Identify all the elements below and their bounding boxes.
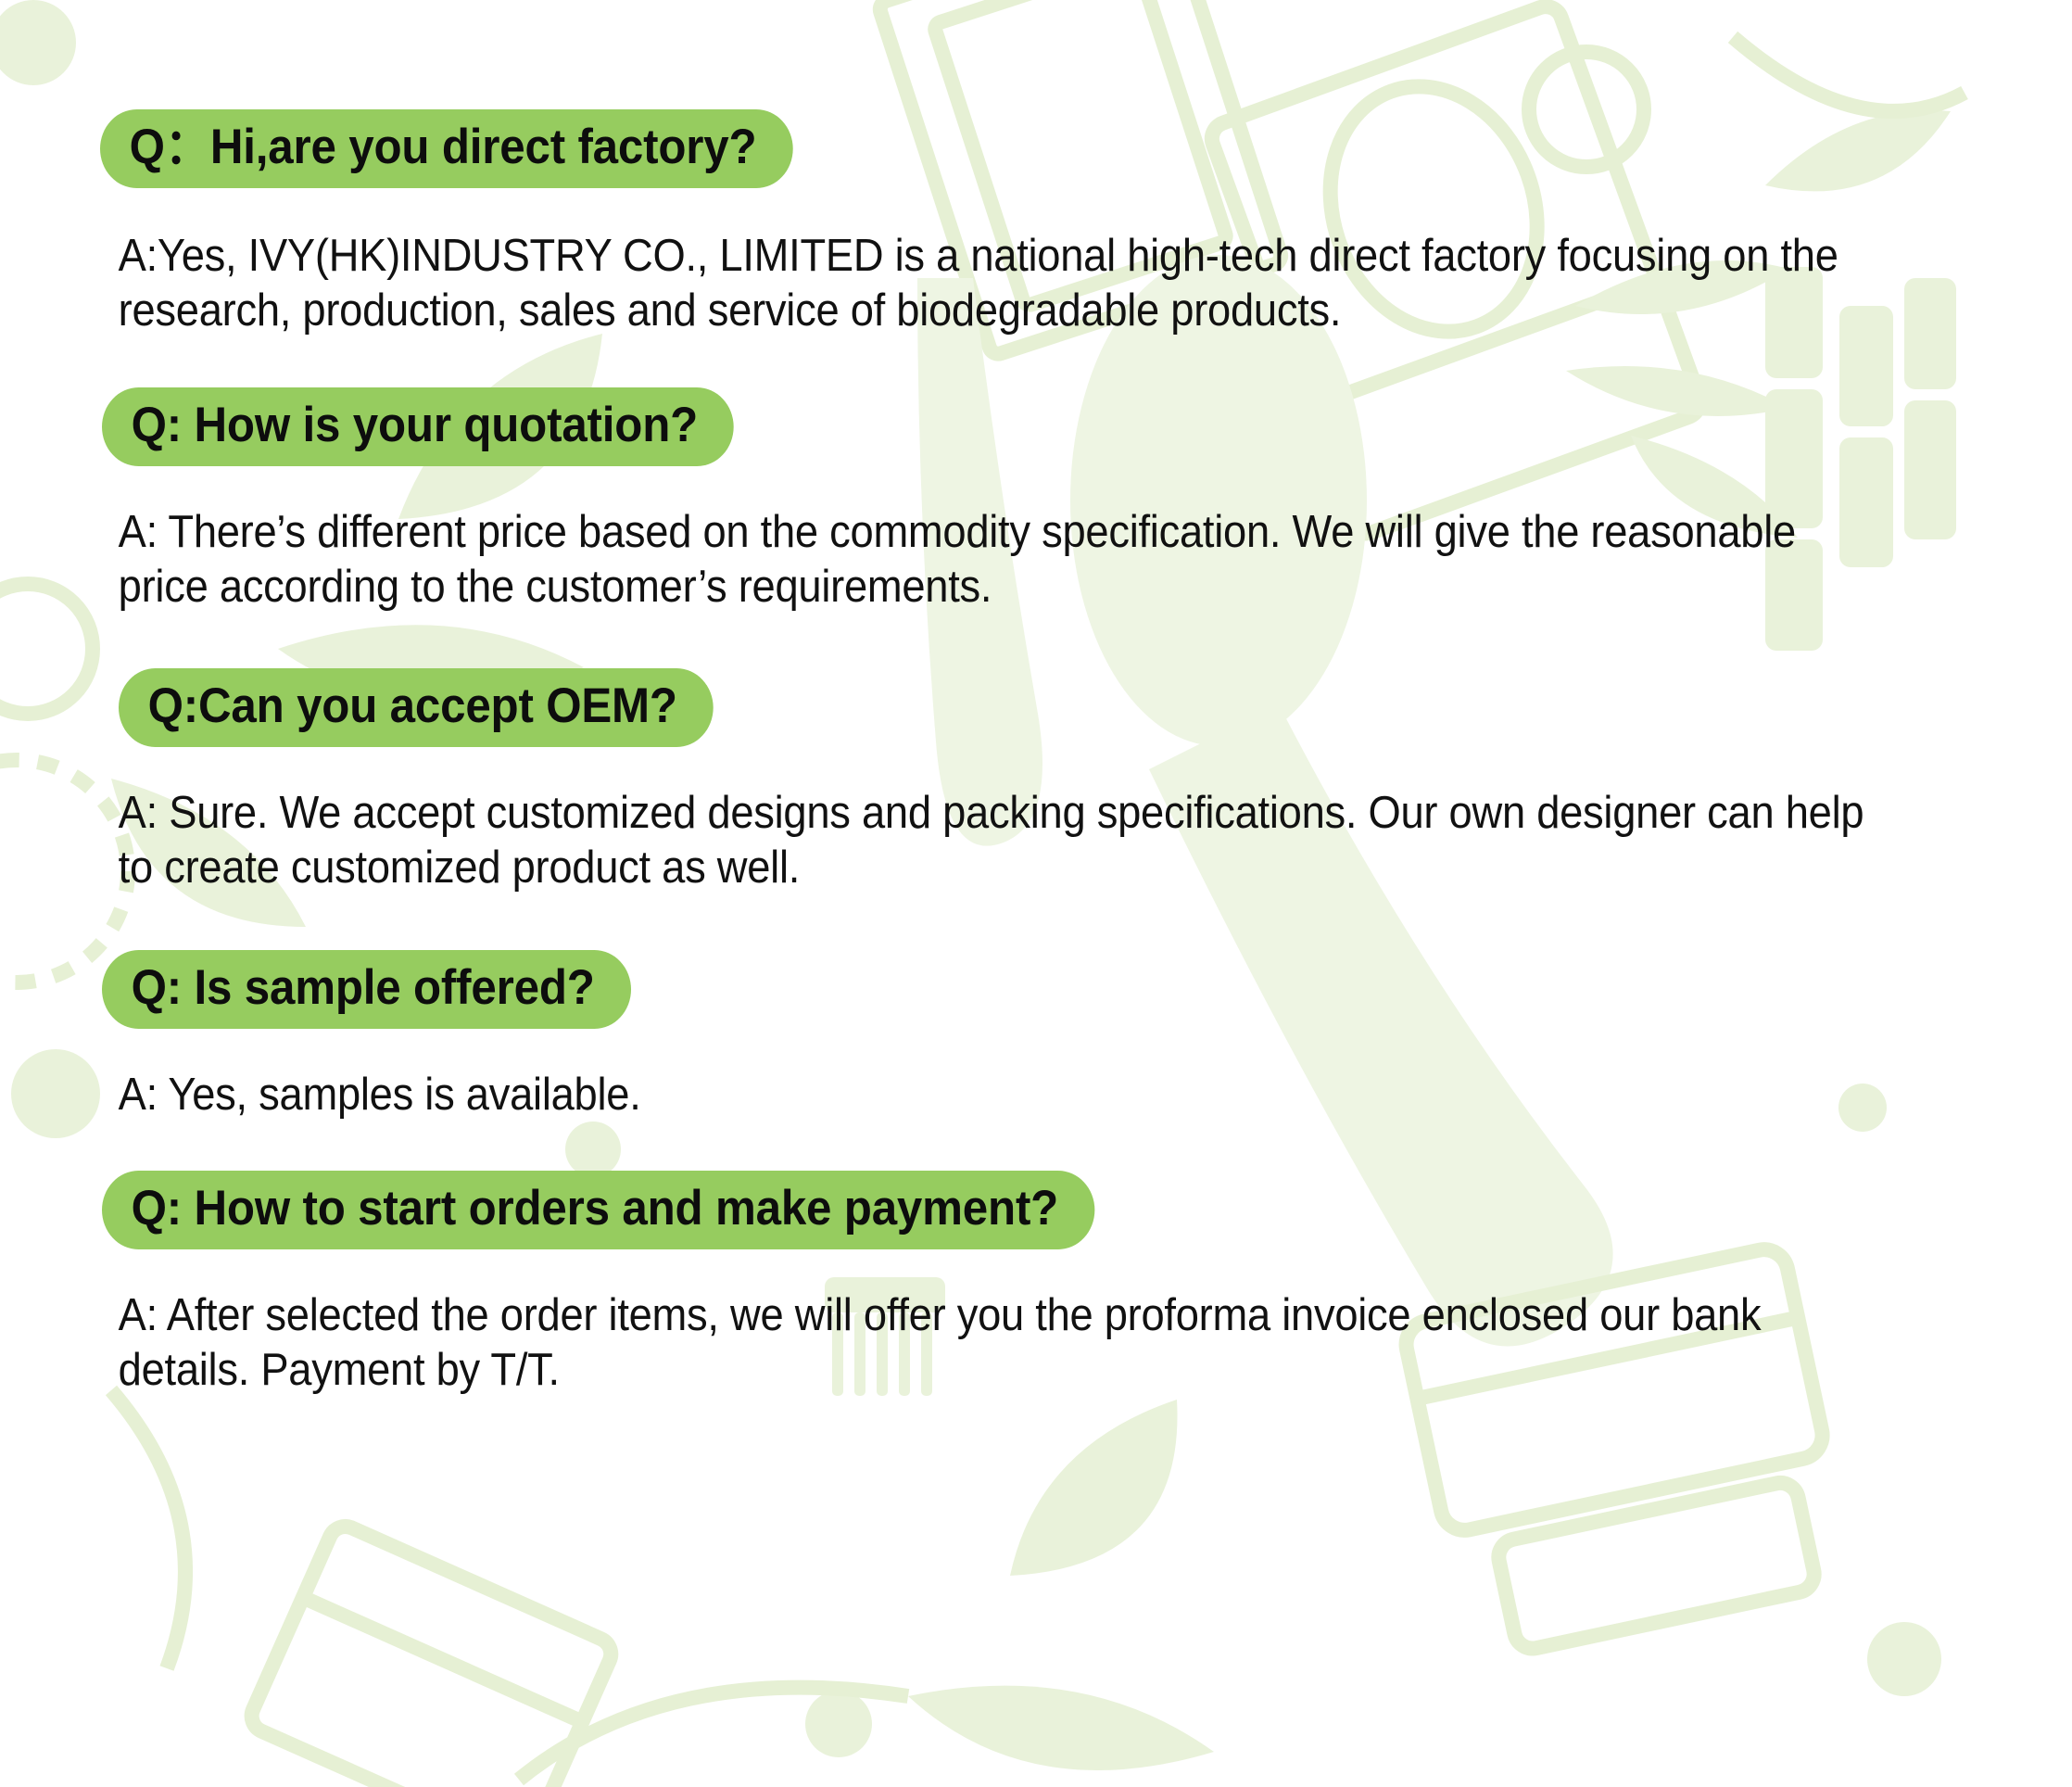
- faq-question-badge[interactable]: Q:Can you accept OEM?: [119, 668, 714, 747]
- bamboo-stalk-icon: [519, 1688, 908, 1780]
- faq-item: Q: Is sample offered? A: Yes, samples is…: [0, 950, 2072, 1122]
- bamboo-stalk-icon: [111, 1390, 185, 1668]
- faq-question-badge[interactable]: Q: How is your quotation?: [102, 387, 734, 466]
- faq-item: Q: How is your quotation? A: There’s dif…: [0, 387, 2072, 615]
- dot-circle-icon: [1867, 1622, 1941, 1696]
- faq-question-badge[interactable]: Q: How to start orders and make payment?: [102, 1171, 1094, 1249]
- faq-item: Q：Hi,are you direct factory? A:Yes, IVY(…: [0, 109, 2072, 339]
- lunch-box-icon: [246, 1521, 616, 1787]
- faq-answer-text: A: Sure. We accept customized designs an…: [0, 786, 1916, 896]
- faq-question-text: Q: How to start orders and make payment?: [132, 1184, 1058, 1233]
- faq-answer-text: A: Yes, samples is available.: [0, 1068, 1916, 1122]
- faq-answer-text: A:Yes, IVY(HK)INDUSTRY CO., LIMITED is a…: [0, 229, 1916, 339]
- faq-list: Q：Hi,are you direct factory? A:Yes, IVY(…: [0, 0, 2072, 1399]
- faq-question-text: Q: Is sample offered?: [132, 963, 595, 1012]
- faq-question-badge[interactable]: Q: Is sample offered?: [102, 950, 631, 1029]
- faq-question-text: Q: How is your quotation?: [132, 400, 698, 450]
- faq-answer-text: A: There’s different price based on the …: [0, 505, 1916, 615]
- dot-circle-icon: [805, 1691, 872, 1757]
- faq-item: Q: How to start orders and make payment?…: [0, 1171, 2072, 1399]
- faq-question-text: Q:Can you accept OEM?: [148, 681, 677, 730]
- faq-answer-text: A: After selected the order items, we wi…: [0, 1288, 1916, 1399]
- faq-item: Q:Can you accept OEM? A: Sure. We accept…: [0, 668, 2072, 896]
- bamboo-leaf-icon: [908, 1400, 1214, 1770]
- faq-question-badge[interactable]: Q：Hi,are you direct factory?: [100, 109, 793, 188]
- faq-question-text: Q：Hi,are you direct factory?: [130, 122, 757, 171]
